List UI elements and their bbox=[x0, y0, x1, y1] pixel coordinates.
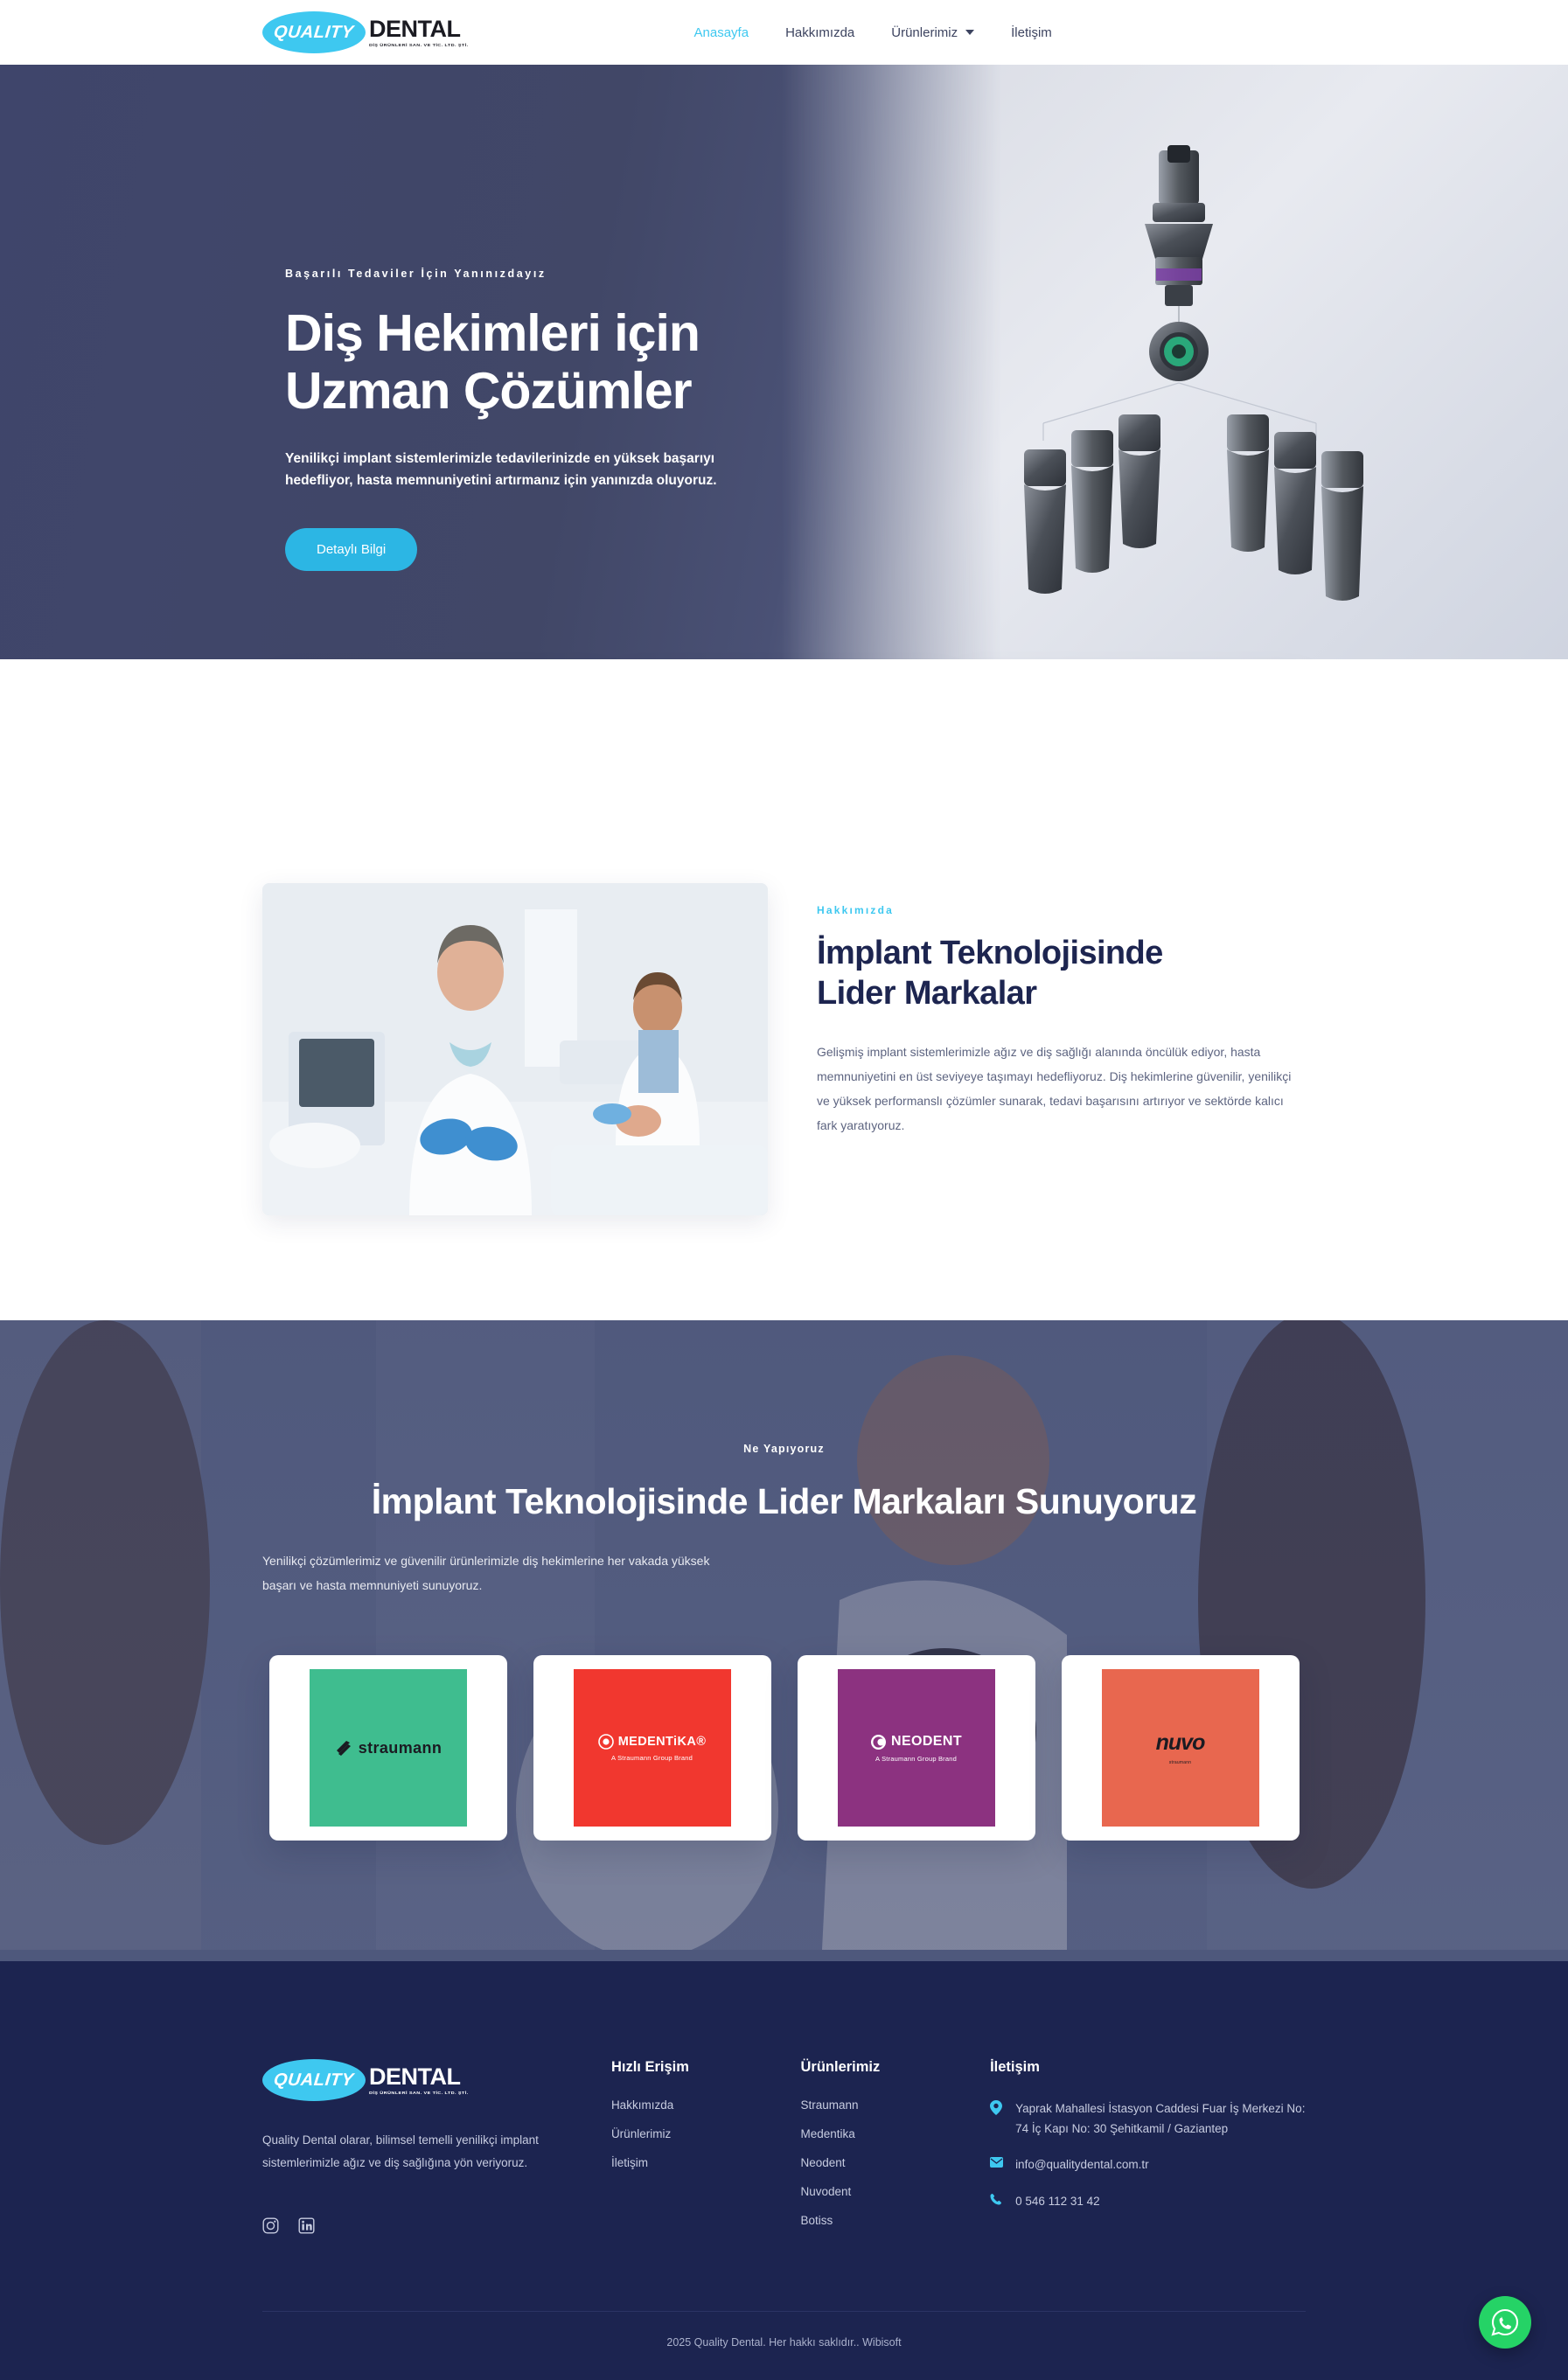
hero-section: Başarılı Tedaviler İçin Yanınızdayız Diş… bbox=[0, 65, 1568, 659]
footer-logo[interactable]: QUALITY DENTAL DİŞ ÜRÜNLERİ SAN. VE TİC.… bbox=[262, 2059, 611, 2101]
footer-brand-column: QUALITY DENTAL DİŞ ÜRÜNLERİ SAN. VE TİC.… bbox=[262, 2059, 611, 2243]
what-we-do-description: Yenilikçi çözümlerimiz ve güvenilir ürün… bbox=[262, 1548, 726, 1597]
footer-column-title: İletişim bbox=[990, 2059, 1306, 2076]
logo-badge-text: QUALITY bbox=[273, 2070, 355, 2091]
footer-product-nuvodent[interactable]: Nuvodent bbox=[801, 2185, 991, 2198]
linkedin-icon[interactable] bbox=[298, 2217, 315, 2234]
about-text: Gelişmiş implant sistemlerimizle ağız ve… bbox=[817, 1040, 1306, 1138]
brand-card-straumann[interactable]: straumann bbox=[269, 1655, 507, 1841]
brand-name: NEODENT bbox=[891, 1734, 962, 1750]
what-we-do-title: İmplant Teknolojisinde Lider Markaları S… bbox=[262, 1481, 1306, 1522]
footer: QUALITY DENTAL DİŞ ÜRÜNLERİ SAN. VE TİC.… bbox=[0, 1961, 1568, 2380]
about-title: İmplant Teknolojisinde Lider Markalar bbox=[817, 934, 1306, 1013]
envelope-icon bbox=[990, 2154, 1004, 2172]
medentika-mark-icon bbox=[598, 1734, 614, 1750]
what-we-do-section: Ne Yapıyoruz İmplant Teknolojisinde Lide… bbox=[0, 1320, 1568, 1961]
neodent-mark-icon bbox=[870, 1734, 887, 1750]
what-we-do-background bbox=[0, 1320, 1568, 1961]
footer-link-urunlerimiz[interactable]: Ürünlerimiz bbox=[611, 2127, 801, 2140]
about-title-line-2: Lider Markalar bbox=[817, 974, 1306, 1014]
hero-title-line-2: Uzman Çözümler bbox=[285, 362, 845, 420]
footer-quick-links-column: Hızlı Erişim Hakkımızda Ürünlerimiz İlet… bbox=[611, 2059, 801, 2243]
footer-copyright-text: 2025 Quality Dental. Her hakkı saklıdır.… bbox=[666, 2336, 901, 2349]
footer-address-text: Yaprak Mahallesi İstasyon Caddesi Fuar İ… bbox=[1015, 2098, 1306, 2139]
logo-badge: QUALITY bbox=[262, 11, 366, 53]
footer-email-item[interactable]: info@qualitydental.com.tr bbox=[990, 2154, 1306, 2175]
logo-word-main: DENTAL bbox=[369, 17, 469, 41]
footer-products-column: Ürünlerimiz Straumann Medentika Neodent … bbox=[801, 2059, 991, 2243]
footer-contact-column: İletişim Yaprak Mahallesi İstasyon Cadde… bbox=[990, 2059, 1306, 2243]
brand-card-medentika[interactable]: MEDENTiKA® A Straumann Group Brand bbox=[533, 1655, 771, 1841]
brand-tile: straumann bbox=[310, 1669, 467, 1827]
hero-eyebrow: Başarılı Tedaviler İçin Yanınızdayız bbox=[285, 268, 845, 280]
nav-item-urunlerimiz[interactable]: Ürünlerimiz bbox=[891, 25, 974, 40]
nav-item-label: Ürünlerimiz bbox=[891, 25, 958, 40]
dental-implant-illustration bbox=[973, 126, 1463, 616]
nav-item-iletisim[interactable]: İletişim bbox=[1011, 25, 1052, 40]
brand-name: nuvo bbox=[1156, 1730, 1205, 1756]
nav-item-label: İletişim bbox=[1011, 25, 1052, 40]
about-title-line-1: İmplant Teknolojisinde bbox=[817, 934, 1306, 974]
nav-item-label: Hakkımızda bbox=[785, 25, 854, 40]
footer-copyright-bar: 2025 Quality Dental. Her hakkı saklıdır.… bbox=[262, 2311, 1306, 2380]
whatsapp-icon bbox=[1490, 2307, 1520, 2337]
nav-item-anasayfa[interactable]: Anasayfa bbox=[694, 25, 749, 40]
brand-tile: NEODENT A Straumann Group Brand bbox=[838, 1669, 995, 1827]
brand-name: MEDENTiKA® bbox=[618, 1735, 707, 1749]
landing-page: QUALITY DENTAL DİŞ ÜRÜNLERİ SAN. VE TİC.… bbox=[0, 0, 1568, 2380]
hero-content: Başarılı Tedaviler İçin Yanınızdayız Diş… bbox=[285, 268, 845, 571]
logo-word-sub: DİŞ ÜRÜNLERİ SAN. VE TİC. LTD. ŞTİ. bbox=[369, 2091, 469, 2095]
footer-email-text: info@qualitydental.com.tr bbox=[1015, 2154, 1149, 2175]
footer-column-title: Ürünlerimiz bbox=[801, 2059, 991, 2076]
footer-column-title: Hızlı Erişim bbox=[611, 2059, 801, 2076]
brand-sub: A Straumann Group Brand bbox=[611, 1754, 693, 1762]
nav-item-hakkimizda[interactable]: Hakkımızda bbox=[785, 25, 854, 40]
footer-product-neodent[interactable]: Neodent bbox=[801, 2156, 991, 2169]
instagram-icon[interactable] bbox=[262, 2217, 279, 2234]
brand-sub: straumann bbox=[1169, 1760, 1191, 1765]
nav-menu: Anasayfa Hakkımızda Ürünlerimiz İletişim bbox=[694, 25, 1052, 40]
brand-name: straumann bbox=[359, 1739, 443, 1757]
what-we-do-content: Ne Yapıyoruz İmplant Teknolojisinde Lide… bbox=[0, 1443, 1568, 1597]
what-we-do-eyebrow: Ne Yapıyoruz bbox=[262, 1443, 1306, 1455]
location-pin-icon bbox=[990, 2098, 1004, 2119]
footer-phone-item[interactable]: 0 546 112 31 42 bbox=[990, 2191, 1306, 2211]
nav-item-label: Anasayfa bbox=[694, 25, 749, 40]
about-eyebrow: Hakkımızda bbox=[817, 904, 1306, 916]
logo-badge: QUALITY bbox=[262, 2059, 366, 2101]
footer-product-straumann[interactable]: Straumann bbox=[801, 2098, 991, 2112]
hero-title-line-1: Diş Hekimleri için bbox=[285, 304, 845, 362]
chevron-down-icon bbox=[965, 30, 974, 35]
site-logo[interactable]: QUALITY DENTAL DİŞ ÜRÜNLERİ SAN. VE TİC.… bbox=[262, 11, 469, 53]
footer-product-medentika[interactable]: Medentika bbox=[801, 2127, 991, 2140]
brand-tile: nuvo straumann bbox=[1102, 1669, 1259, 1827]
brand-card-neodent[interactable]: NEODENT A Straumann Group Brand bbox=[798, 1655, 1035, 1841]
brand-card-nuvo[interactable]: nuvo straumann bbox=[1062, 1655, 1300, 1841]
about-body: Hakkımızda İmplant Teknolojisinde Lider … bbox=[817, 883, 1306, 1138]
footer-about-text: Quality Dental olarar, bilimsel temelli … bbox=[262, 2129, 551, 2175]
about-section: Hakkımızda İmplant Teknolojisinde Lider … bbox=[0, 659, 1568, 1320]
top-navbar: QUALITY DENTAL DİŞ ÜRÜNLERİ SAN. VE TİC.… bbox=[0, 0, 1568, 65]
hero-description: Yenilikçi implant sistemlerimizle tedavi… bbox=[285, 448, 775, 491]
brand-tile: MEDENTiKA® A Straumann Group Brand bbox=[574, 1669, 731, 1827]
brand-card-row: straumann MEDENTiKA® A Straumann Group B… bbox=[0, 1655, 1568, 1841]
footer-social-row bbox=[262, 2217, 611, 2234]
brand-sub: A Straumann Group Brand bbox=[875, 1755, 957, 1763]
about-photo bbox=[262, 883, 768, 1215]
logo-badge-text: QUALITY bbox=[273, 23, 355, 43]
phone-icon bbox=[990, 2191, 1004, 2210]
logo-word-sub: DİŞ ÜRÜNLERİ SAN. VE TİC. LTD. ŞTİ. bbox=[369, 43, 469, 47]
footer-phone-text: 0 546 112 31 42 bbox=[1015, 2191, 1100, 2211]
whatsapp-float-button[interactable] bbox=[1479, 2296, 1531, 2349]
straumann-mark-icon bbox=[334, 1738, 353, 1757]
footer-address-item: Yaprak Mahallesi İstasyon Caddesi Fuar İ… bbox=[990, 2098, 1306, 2139]
footer-link-iletisim[interactable]: İletişim bbox=[611, 2156, 801, 2169]
logo-word-main: DENTAL bbox=[369, 2065, 469, 2089]
hero-cta-button[interactable]: Detaylı Bilgi bbox=[285, 528, 417, 571]
hero-title: Diş Hekimleri için Uzman Çözümler bbox=[285, 304, 845, 420]
footer-product-botiss[interactable]: Botiss bbox=[801, 2214, 991, 2227]
footer-link-hakkimizda[interactable]: Hakkımızda bbox=[611, 2098, 801, 2112]
